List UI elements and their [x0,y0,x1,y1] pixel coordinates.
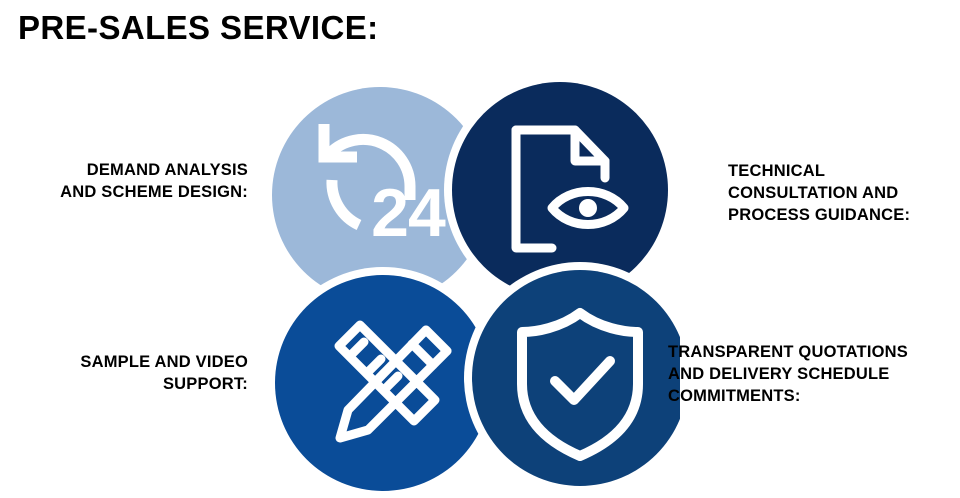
icon-24-label: 24 [371,175,446,251]
label-technical-consultation-line-3: PROCESS GUIDANCE: [728,205,910,227]
label-demand-analysis: DEMAND ANALYSIS AND SCHEME DESIGN: [60,160,248,204]
page-title: PRE-SALES SERVICE: [18,10,379,46]
label-demand-analysis-line-1: DEMAND ANALYSIS [60,160,248,182]
label-transparent-quotations-line-3: COMMITMENTS: [668,386,908,408]
label-transparent-quotations-line-1: TRANSPARENT QUOTATIONS [668,342,908,364]
circle-transparent-quotations[interactable] [464,262,680,493]
label-sample-video-support-line-2: SUPPORT: [80,374,248,396]
label-technical-consultation-line-2: CONSULTATION AND [728,183,910,205]
label-sample-video-support-line-1: SAMPLE AND VIDEO [80,352,248,374]
label-demand-analysis-line-2: AND SCHEME DESIGN: [60,182,248,204]
pre-sales-service-infographic: PRE-SALES SERVICE: [0,0,960,498]
label-transparent-quotations-line-2: AND DELIVERY SCHEDULE [668,364,908,386]
label-sample-video-support: SAMPLE AND VIDEO SUPPORT: [80,352,248,396]
label-technical-consultation-line-1: TECHNICAL [728,161,910,183]
label-transparent-quotations: TRANSPARENT QUOTATIONS AND DELIVERY SCHE… [668,342,908,408]
circle-cluster: 24 [260,78,680,493]
clock-24-rotate-icon-text: 24 [371,175,446,251]
label-technical-consultation: TECHNICAL CONSULTATION AND PROCESS GUIDA… [728,161,910,227]
